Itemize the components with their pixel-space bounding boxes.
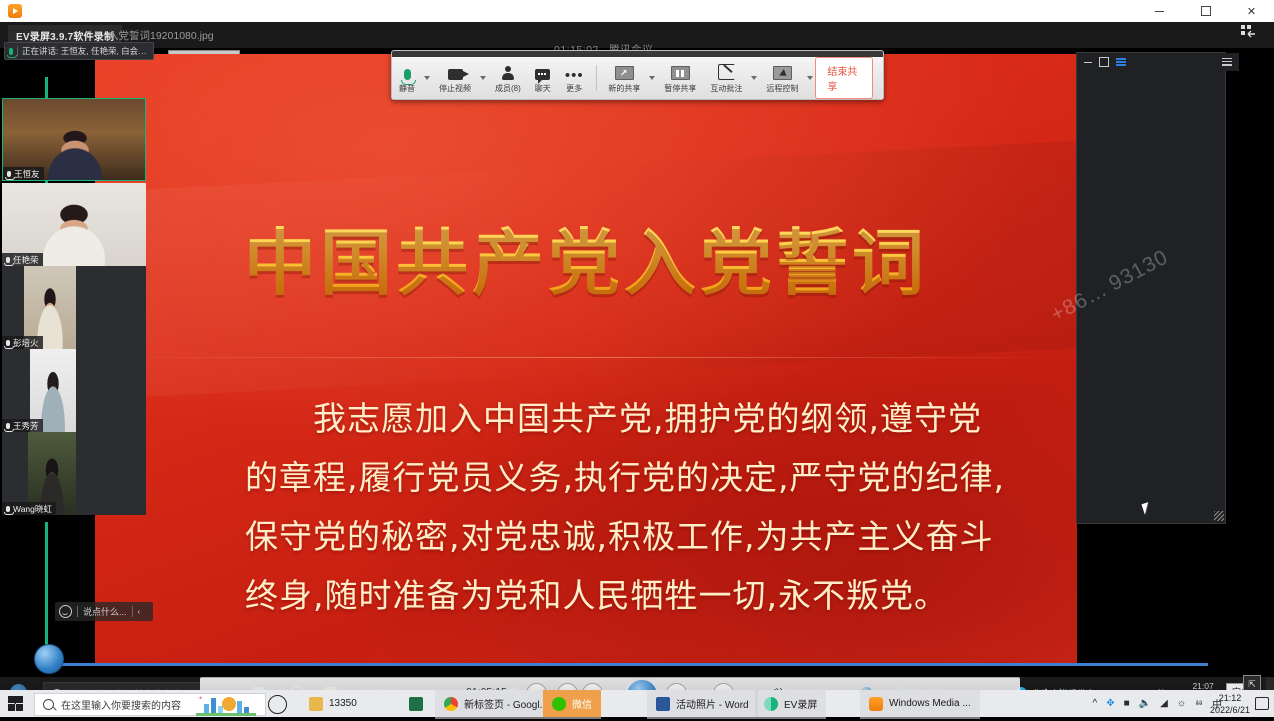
fast-forward-button[interactable]: ▶▶: [713, 683, 734, 690]
person-icon: [501, 62, 515, 80]
collapse-icon[interactable]: ‹: [138, 607, 141, 616]
participant-name-badge: 王恒友: [3, 167, 44, 180]
participant-tile[interactable]: 彭培火: [2, 266, 146, 349]
stop-button[interactable]: ■: [582, 683, 603, 690]
more-label: 更多: [566, 83, 582, 94]
search-icon: [43, 699, 54, 710]
slide-oath-text: 我志愿加入中国共产党,拥护党的纲领,遵守党 的章程,履行党员义务,执行党的决定,…: [245, 389, 1037, 625]
participants-button[interactable]: 成员(8): [488, 57, 528, 99]
taskbar-item-label: 13350: [329, 698, 357, 709]
clock-time: 21:07: [1184, 681, 1222, 690]
bluetooth-icon[interactable]: ✥: [1106, 698, 1114, 709]
clock-time: 21:12: [1210, 692, 1250, 704]
microphone-icon: [6, 340, 10, 346]
chevron-down-icon[interactable]: [649, 76, 655, 80]
inner-seek-bar[interactable]: [48, 663, 1208, 666]
participant-name: 王秀芳: [13, 420, 39, 432]
search-placeholder: 在这里输入你要搜索的内容: [61, 697, 181, 712]
windows-taskbar: 在这里输入你要搜索的内容 ✦ 13350 新标签页 - Googl... 微信 …: [0, 690, 1274, 717]
participant-tile[interactable]: 王恒友: [2, 98, 146, 181]
chat-label: 聊天: [535, 83, 551, 94]
divider: [132, 606, 133, 617]
news-widget-icon: ✦: [196, 692, 256, 716]
recorder-edge-marker-bottom: [45, 522, 48, 657]
toolbar-divider: [596, 65, 597, 91]
camera-icon: [448, 62, 463, 80]
slide-title: 中国共产党入党誓词: [95, 204, 1077, 309]
taskbar-item-wechat[interactable]: 微信: [543, 690, 601, 719]
taskbar-item-label: Windows Media ...: [889, 698, 971, 709]
screenshot-tool-icon[interactable]: ⇱: [1243, 675, 1261, 690]
participant-name-badge: Wang晓虹: [2, 502, 56, 515]
cortana-button[interactable]: [268, 695, 287, 714]
annotate-label: 互动批注: [710, 83, 742, 94]
panel-layout-icon[interactable]: [1116, 58, 1126, 66]
emoji-icon[interactable]: [59, 605, 72, 618]
remote-control-icon: [773, 62, 792, 80]
participant-name-badge: 任艳荣: [2, 253, 43, 266]
participant-name: 王恒友: [14, 168, 40, 180]
clock-date: 2022/6/21: [1210, 704, 1250, 716]
start-button[interactable]: [8, 696, 23, 711]
oath-line: 的章程,履行党员义务,执行党的决定,严守党的纪律,: [245, 448, 1037, 507]
slide-divider: [105, 357, 1067, 358]
pause-icon: [671, 62, 690, 80]
mini-chat-input[interactable]: 说点什么... ‹: [55, 602, 153, 621]
participant-tile[interactable]: Wang晓虹: [2, 432, 146, 515]
chevron-down-icon[interactable]: [807, 76, 813, 80]
divider: [77, 606, 78, 617]
pause-share-label: 暂停共享: [664, 83, 696, 94]
rewind-button[interactable]: ◀◀: [666, 683, 687, 690]
volume-icon[interactable]: ◀)): [766, 683, 785, 690]
chevron-down-icon[interactable]: [424, 76, 430, 80]
wifi-icon[interactable]: ◢: [1160, 698, 1168, 709]
mute-button[interactable]: 静音: [392, 57, 422, 99]
media-transport-controls: 01:05:15 ⇄ ↻ ■ ◀◀ ▶▶ ◀)): [200, 677, 1020, 690]
inner-seek-handle[interactable]: [34, 644, 64, 674]
oath-line: 我志愿加入中国共产党,拥护党的纲领,遵守党: [245, 389, 1037, 448]
news-and-interests-widget[interactable]: ✦: [196, 692, 256, 716]
remote-control-label: 远程控制: [766, 83, 798, 94]
window-maximize-button[interactable]: [1183, 0, 1228, 22]
taskbar-item-chrome[interactable]: 新标签页 - Googl...: [435, 690, 557, 719]
new-share-button[interactable]: ↗ 新的共享: [601, 57, 647, 99]
chevron-down-icon[interactable]: [480, 76, 486, 80]
oath-line: 保守党的秘密,对党忠诚,积极工作,为共产主义奋斗: [245, 507, 1037, 566]
participants-label: 成员(8): [495, 83, 521, 94]
microphone-icon: [6, 257, 10, 263]
network-icon[interactable]: ☼: [1177, 698, 1186, 709]
panel-list-icon[interactable]: [1222, 58, 1232, 66]
chat-icon: [535, 62, 550, 80]
microphone-icon: [6, 506, 10, 512]
oath-line: 终身,随时准备为党和人民牺牲一切,永不叛党。: [245, 566, 1037, 625]
annotate-button[interactable]: 互动批注: [703, 57, 749, 99]
media-player-icon: [8, 4, 22, 18]
recorded-clock[interactable]: 21:07 2022/6/21: [1184, 681, 1222, 690]
microphone-icon: [6, 423, 10, 429]
keyboard-icon[interactable]: ⎂: [1195, 698, 1203, 709]
chevron-down-icon[interactable]: [751, 76, 757, 80]
shared-slide: 中国共产党入党誓词 我志愿加入中国共产党,拥护党的纲领,遵守党 的章程,履行党员…: [95, 54, 1077, 664]
volume-icon[interactable]: 🔈: [1139, 698, 1151, 709]
taskbar-item-media-player[interactable]: Windows Media ...: [860, 690, 980, 719]
panel-minimize-icon[interactable]: [1084, 62, 1092, 63]
recorder-glyph: [1240, 24, 1258, 40]
microphone-icon: [9, 48, 13, 55]
taskbar-item-label: 微信: [572, 696, 592, 711]
participant-name: Wang晓虹: [13, 503, 52, 515]
windows-media-player-window: ✕ EV录屏3.9.7软件录制 入党誓词19201080.jpg 中国共产党入党…: [0, 0, 1274, 690]
microphone-icon: [404, 62, 411, 80]
ellipsis-icon: •••: [565, 62, 584, 80]
divider: [17, 46, 18, 56]
taskbar-item-excel[interactable]: [400, 690, 432, 717]
pause-share-button[interactable]: 暂停共享: [657, 57, 703, 99]
window-close-button[interactable]: ✕: [1229, 0, 1274, 22]
participant-name: 任艳荣: [13, 254, 39, 266]
tray-expand-icon[interactable]: ^: [1093, 698, 1098, 709]
pen-icon: [718, 62, 735, 80]
image-file-name: 入党誓词19201080.jpg: [108, 28, 214, 43]
panel-resize-handle[interactable]: [1214, 511, 1224, 521]
svg-text:✦: ✦: [198, 695, 203, 702]
taskbar-item-label: 活动照片 - Word: [676, 696, 749, 711]
recorded-screen-area: EV录屏3.9.7软件录制 入党誓词19201080.jpg 中国共产党入党誓词…: [0, 22, 1274, 690]
active-speaker-label: 正在讲话: 王恒友, 任艳荣, 白会…: [22, 45, 147, 57]
recorder-float-icon[interactable]: [1240, 24, 1258, 40]
taskbar-item-label: EV录屏: [784, 696, 817, 711]
participant-tile[interactable]: 任艳荣: [2, 183, 146, 266]
microphone-icon: [7, 171, 11, 177]
taskbar-clock[interactable]: 21:12 2022/6/21: [1210, 692, 1250, 716]
taskbar-item-ev-recorder[interactable]: EV录屏: [755, 690, 826, 719]
participant-name-badge: 彭培火: [2, 336, 43, 349]
system-tray[interactable]: ^ ✥ ■ 🔈 ◢ ☼ ⎂ 中: [1093, 690, 1222, 717]
more-button[interactable]: ••• 更多: [558, 57, 591, 99]
taskbar-item-word[interactable]: 活动照片 - Word: [647, 690, 758, 719]
new-share-label: 新的共享: [608, 83, 640, 94]
panel-maximize-icon[interactable]: [1099, 57, 1109, 67]
screen-share-icon: ↗: [615, 62, 634, 80]
end-share-button[interactable]: 结束共享: [815, 57, 873, 99]
panel-window-controls: [1077, 53, 1239, 71]
active-speaker-bar: 正在讲话: 王恒友, 任艳荣, 白会…: [4, 42, 154, 60]
taskbar-item-explorer[interactable]: 13350: [300, 690, 366, 717]
meeting-toolbar: 静音 停止视频 成员(8) 聊天 ••• 更多: [391, 50, 884, 100]
participant-name: 彭培火: [13, 337, 39, 349]
window-minimize-button[interactable]: [1137, 0, 1182, 22]
battery-icon[interactable]: ■: [1124, 698, 1130, 709]
notification-center-button[interactable]: [1255, 697, 1269, 710]
repeat-button[interactable]: ↻: [557, 683, 578, 690]
taskbar-item-label: 新标签页 - Googl...: [464, 696, 548, 711]
remote-control-button[interactable]: 远程控制: [759, 57, 805, 99]
stop-video-button[interactable]: 停止视频: [432, 57, 478, 99]
stop-video-label: 停止视频: [439, 83, 471, 94]
mini-chat-placeholder: 说点什么...: [83, 605, 127, 618]
pause-button[interactable]: [625, 678, 659, 690]
window-titlebar[interactable]: ✕: [0, 0, 1274, 23]
show-desktop-button[interactable]: [1266, 677, 1274, 690]
participants-panel: [1076, 52, 1226, 524]
chat-button[interactable]: 聊天: [528, 57, 558, 99]
participant-tile[interactable]: 王秀芳: [2, 349, 146, 432]
shuffle-button[interactable]: ⇄: [526, 683, 547, 690]
participant-name-badge: 王秀芳: [2, 419, 43, 432]
